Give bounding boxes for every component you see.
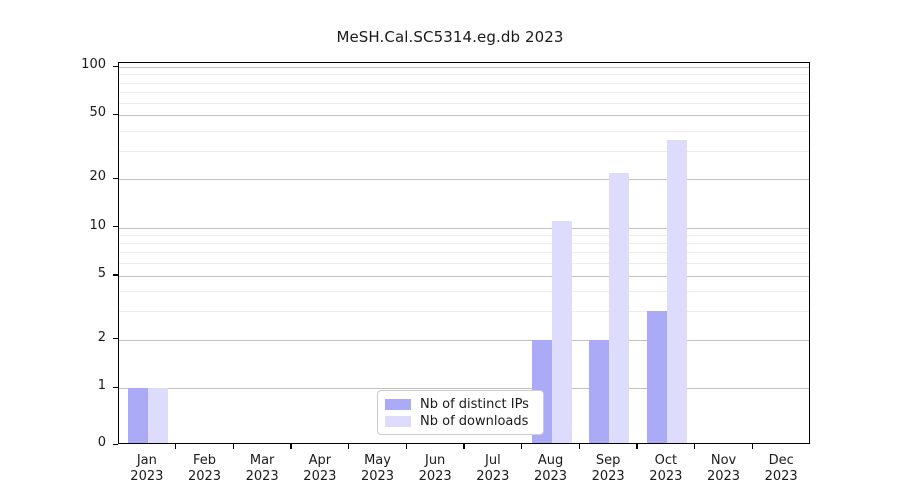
x-tick-year: 2023	[233, 469, 291, 485]
y-tick-label-20: 20	[0, 169, 106, 184]
chart-title: MeSH.Cal.SC5314.eg.db 2023	[0, 28, 900, 46]
x-tick-month: Jul	[464, 453, 522, 469]
gridline-2	[119, 340, 809, 341]
x-tick-year: 2023	[349, 469, 407, 485]
x-tick-mark-1	[175, 444, 176, 449]
gridline-9	[119, 235, 809, 236]
gridline-7	[119, 252, 809, 253]
x-tick-mark-7	[521, 444, 522, 449]
x-tick-label-jan-2023: Jan2023	[118, 453, 176, 485]
gridline-30	[119, 151, 809, 152]
gridline-60	[119, 103, 809, 104]
chart-figure: MeSH.Cal.SC5314.eg.db 2023 0125102050100…	[0, 0, 900, 500]
gridline-50	[119, 115, 809, 116]
y-tick-label-2: 2	[0, 330, 106, 345]
x-tick-label-nov-2023: Nov2023	[695, 453, 753, 485]
y-tick-label-10: 10	[0, 218, 106, 233]
x-tick-label-may-2023: May2023	[349, 453, 407, 485]
gridline-40	[119, 131, 809, 132]
x-tick-mark-8	[579, 444, 580, 449]
bar-ips-oct-2023	[647, 311, 667, 444]
legend-label-ips: Nb of distinct IPs	[420, 397, 529, 412]
x-tick-month: Dec	[752, 453, 810, 469]
x-tick-month: Oct	[637, 453, 695, 469]
y-tick-mark-10	[113, 226, 118, 227]
x-tick-month: Nov	[695, 453, 753, 469]
x-tick-month: Aug	[522, 453, 580, 469]
y-tick-mark-20	[113, 178, 118, 179]
y-tick-mark-5	[113, 274, 118, 275]
gridline-100	[119, 67, 809, 68]
x-tick-label-aug-2023: Aug2023	[522, 453, 580, 485]
bar-ips-sep-2023	[589, 340, 609, 444]
y-tick-mark-0	[113, 444, 118, 445]
y-tick-label-0: 0	[0, 435, 106, 450]
gridline-10	[119, 228, 809, 229]
x-tick-month: Mar	[233, 453, 291, 469]
x-tick-label-apr-2023: Apr2023	[291, 453, 349, 485]
x-tick-year: 2023	[118, 469, 176, 485]
bar-ips-jan-2023	[128, 388, 148, 444]
legend-swatch-downloads	[385, 416, 411, 427]
x-tick-mark-6	[463, 444, 464, 449]
x-tick-month: Jun	[406, 453, 464, 469]
x-tick-label-jul-2023: Jul2023	[464, 453, 522, 485]
gridline-6	[119, 263, 809, 264]
x-tick-year: 2023	[291, 469, 349, 485]
x-tick-label-mar-2023: Mar2023	[233, 453, 291, 485]
gridline-70	[119, 92, 809, 93]
y-tick-label-5: 5	[0, 266, 106, 281]
legend-item-ips: Nb of distinct IPs	[385, 396, 535, 413]
x-tick-month: Apr	[291, 453, 349, 469]
x-tick-month: May	[349, 453, 407, 469]
x-tick-label-jun-2023: Jun2023	[406, 453, 464, 485]
x-tick-label-feb-2023: Feb2023	[176, 453, 234, 485]
x-tick-mark-10	[694, 444, 695, 449]
gridline-80	[119, 83, 809, 84]
y-tick-label-100: 100	[0, 57, 106, 72]
x-tick-label-dec-2023: Dec2023	[752, 453, 810, 485]
gridline-8	[119, 243, 809, 244]
y-tick-mark-1	[113, 387, 118, 388]
x-tick-mark-4	[348, 444, 349, 449]
bar-downloads-jan-2023	[148, 388, 168, 444]
y-tick-mark-100	[113, 66, 118, 67]
legend-swatch-ips	[385, 399, 411, 410]
x-tick-year: 2023	[406, 469, 464, 485]
x-tick-label-sep-2023: Sep2023	[579, 453, 637, 485]
x-tick-mark-3	[290, 444, 291, 449]
legend-label-downloads: Nb of downloads	[420, 414, 528, 429]
gridline-20	[119, 179, 809, 180]
gridline-90	[119, 74, 809, 75]
x-tick-mark-2	[233, 444, 234, 449]
plot-area	[118, 62, 810, 444]
x-tick-year: 2023	[695, 469, 753, 485]
x-tick-year: 2023	[464, 469, 522, 485]
chart-legend: Nb of distinct IPs Nb of downloads	[377, 390, 544, 435]
x-tick-label-oct-2023: Oct2023	[637, 453, 695, 485]
gridline-4	[119, 291, 809, 292]
x-tick-month: Sep	[579, 453, 637, 469]
y-tick-mark-2	[113, 338, 118, 339]
gridline-5	[119, 276, 809, 277]
x-tick-month: Feb	[176, 453, 234, 469]
x-tick-mark-11	[752, 444, 753, 449]
gridline-1	[119, 388, 809, 389]
x-tick-year: 2023	[752, 469, 810, 485]
x-tick-month: Jan	[118, 453, 176, 469]
bar-downloads-oct-2023	[667, 140, 687, 444]
x-tick-year: 2023	[579, 469, 637, 485]
x-tick-mark-9	[636, 444, 637, 449]
y-tick-label-50: 50	[0, 105, 106, 120]
bar-downloads-sep-2023	[609, 173, 629, 445]
y-tick-mark-50	[113, 114, 118, 115]
legend-item-downloads: Nb of downloads	[385, 413, 535, 430]
x-tick-year: 2023	[522, 469, 580, 485]
x-tick-year: 2023	[637, 469, 695, 485]
x-tick-mark-5	[406, 444, 407, 449]
gridline-3	[119, 311, 809, 312]
y-tick-label-1: 1	[0, 378, 106, 393]
x-tick-year: 2023	[176, 469, 234, 485]
bar-downloads-aug-2023	[552, 221, 572, 444]
